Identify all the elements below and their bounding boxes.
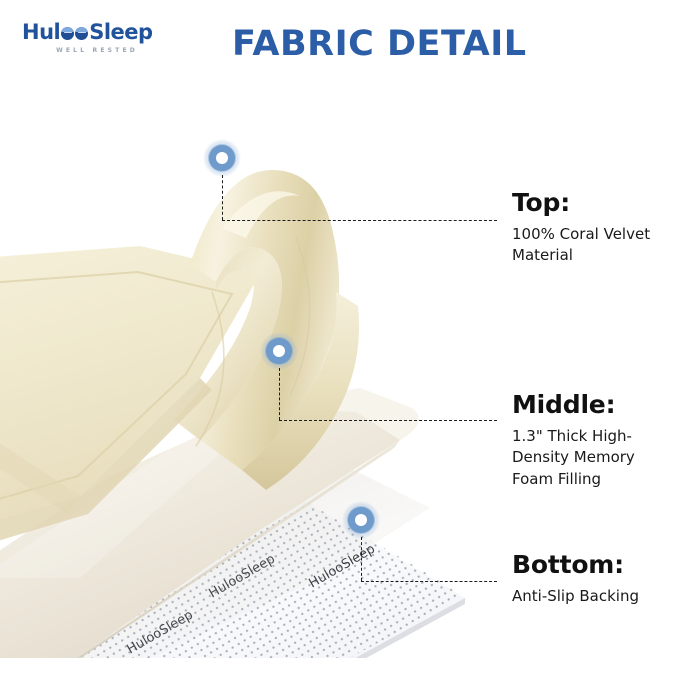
sleeping-eyes-icon	[61, 27, 88, 40]
leader-line-bottom-vertical	[361, 537, 362, 581]
brand-tagline: WELL RESTED	[22, 47, 172, 54]
callout-marker-bottom[interactable]	[342, 501, 380, 539]
brand-name-part1: Hul	[22, 22, 60, 43]
callout-text-middle: Middle: 1.3" Thick High-Density Memory F…	[512, 392, 672, 490]
callout-marker-top[interactable]	[203, 139, 241, 177]
callout-heading-middle: Middle:	[512, 392, 672, 417]
infographic-canvas: Hul Sleep WELL RESTED FABRIC DETAIL	[0, 0, 679, 679]
leader-line-middle-vertical	[279, 368, 280, 420]
callout-marker-middle[interactable]	[260, 332, 298, 370]
marker-hole-bottom	[355, 514, 367, 526]
sleeping-eye-icon-right	[75, 27, 88, 40]
sleeping-eye-icon-left	[61, 27, 74, 40]
callout-heading-bottom: Bottom:	[512, 552, 672, 577]
marker-hole-middle	[273, 345, 285, 357]
leader-line-top-horizontal	[222, 220, 497, 221]
brand-name-part2: Sleep	[89, 22, 152, 43]
marker-hole-top	[216, 152, 228, 164]
leader-line-bottom-horizontal	[361, 581, 497, 582]
brand-logo-wordmark: Hul Sleep	[22, 22, 182, 43]
callout-text-bottom: Bottom: Anti-Slip Backing	[512, 552, 672, 607]
callout-text-top: Top: 100% Coral Velvet Material	[512, 190, 672, 267]
callout-description-top: 100% Coral Velvet Material	[512, 224, 672, 267]
page-title: FABRIC DETAIL	[232, 24, 527, 64]
leader-line-middle-horizontal	[279, 420, 497, 421]
callout-description-middle: 1.3" Thick High-Density Memory Foam Fill…	[512, 426, 672, 490]
callout-description-bottom: Anti-Slip Backing	[512, 586, 672, 607]
leader-line-top-vertical	[222, 175, 223, 220]
brand-logo: Hul Sleep WELL RESTED	[22, 22, 182, 62]
callout-heading-top: Top:	[512, 190, 672, 215]
